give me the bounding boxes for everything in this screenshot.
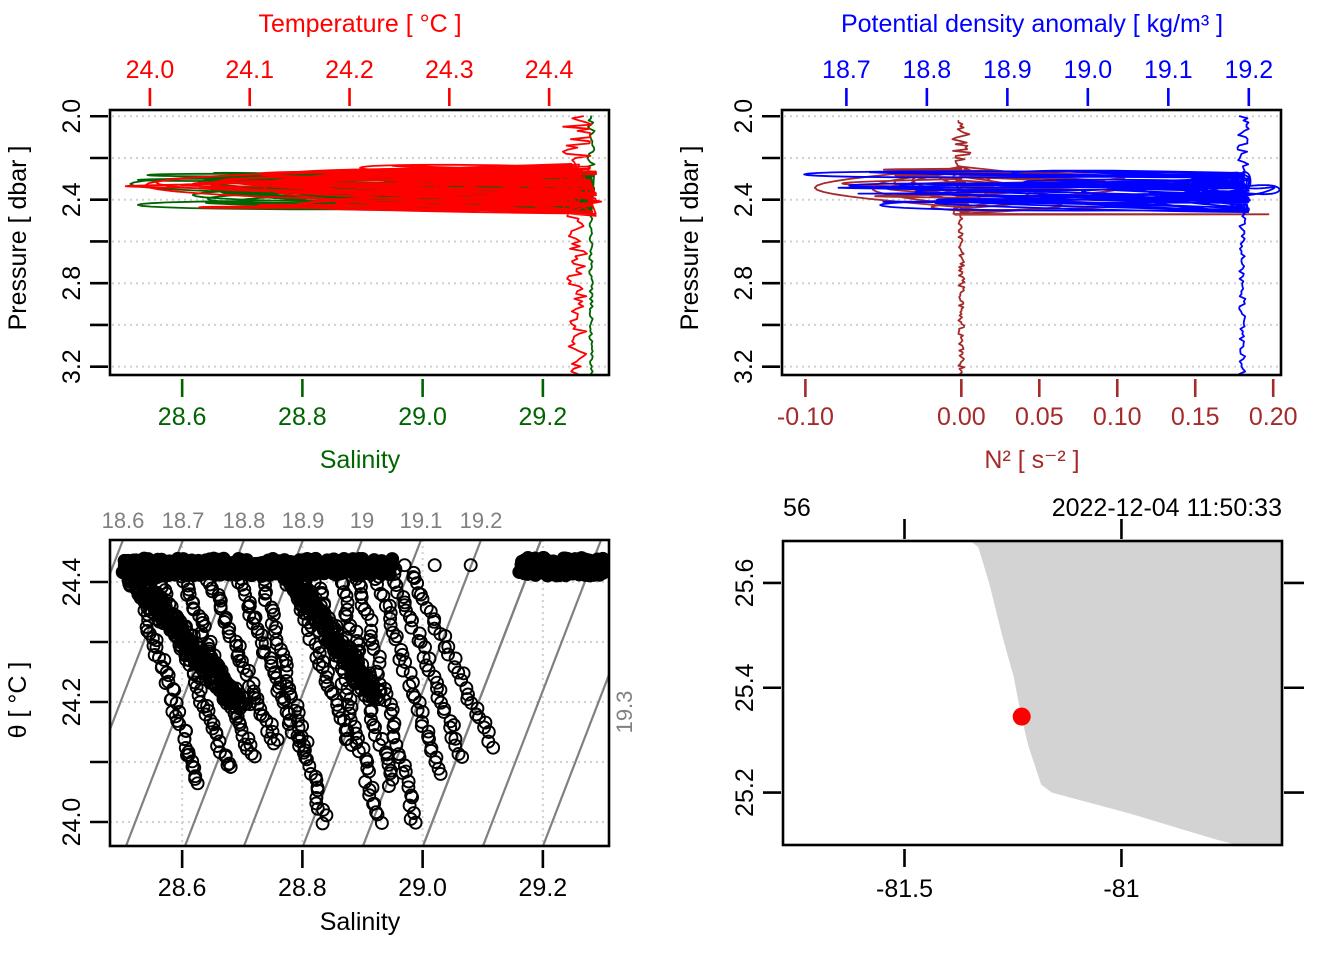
left-axis-ticks: 2.02.42.83.2 bbox=[730, 99, 780, 384]
temperature-trace bbox=[126, 116, 602, 374]
top-axis-tick-label: 24.4 bbox=[525, 56, 574, 84]
top-axis-tick-label: 19.2 bbox=[1224, 56, 1273, 84]
top-axis-ticks: 18.718.818.919.019.119.2 bbox=[822, 56, 1273, 106]
left-axis-tick-label: 2.0 bbox=[58, 99, 86, 134]
ts-point bbox=[136, 554, 148, 566]
isopycnal-line bbox=[543, 540, 661, 846]
ts-point bbox=[397, 665, 409, 677]
top-axis-ticks bbox=[904, 519, 1121, 539]
bottom-axis-title: Salinity bbox=[320, 908, 401, 936]
left-axis-tick-label: 24.0 bbox=[58, 798, 86, 847]
plot-frame bbox=[782, 110, 1281, 375]
left-axis-tick-label: 2.8 bbox=[58, 266, 86, 301]
bottom-axis-tick-label: 28.6 bbox=[158, 403, 207, 431]
bottom-axis-tick-label: 28.8 bbox=[278, 874, 327, 902]
bottom-axis-tick-label: 29.2 bbox=[519, 874, 568, 902]
bottom-axis-tick-label: -0.10 bbox=[777, 403, 834, 431]
ts-point bbox=[547, 568, 559, 580]
gridlines bbox=[112, 116, 607, 366]
profile-traces bbox=[804, 116, 1279, 374]
left-axis-tick-label: 2.4 bbox=[730, 182, 758, 217]
ts-point bbox=[338, 553, 350, 565]
bottom-axis-tick-label: 0.10 bbox=[1093, 403, 1142, 431]
ts-point bbox=[249, 751, 261, 763]
ts-point bbox=[536, 560, 548, 572]
bottom-axis-tick-label: 29.0 bbox=[398, 403, 447, 431]
isopycnal-line bbox=[483, 540, 601, 846]
bottom-axis-ticks: -0.100.000.050.100.150.20 bbox=[777, 379, 1298, 431]
ts-point bbox=[310, 553, 322, 565]
top-axis-tick-label: 18.7 bbox=[822, 56, 871, 84]
panel-station-map: 56 2022-12-04 11:50:33 25.625.425.2 -81.… bbox=[672, 480, 1344, 960]
bottom-axis-title: N² [ s⁻² ] bbox=[984, 446, 1079, 474]
isopycnal-top-labels: 18.618.718.818.91919.119.2 bbox=[102, 508, 503, 533]
panel-theta-salinity-diagram: 18.618.718.818.91919.119.2 19.3 Salinity… bbox=[0, 480, 672, 960]
left-axis-tick-label: 25.2 bbox=[731, 768, 759, 817]
ts-point bbox=[183, 558, 195, 570]
land-polygon bbox=[967, 538, 1282, 853]
bottom-axis-tick-label: 0.15 bbox=[1171, 403, 1220, 431]
top-axis-tick-label: 24.3 bbox=[425, 56, 474, 84]
isopycnal-side-label: 19.3 bbox=[612, 691, 637, 734]
density-trace bbox=[804, 116, 1279, 374]
top-axis-tick-label: 24.1 bbox=[225, 56, 274, 84]
left-axis-ticks: 25.625.425.2 bbox=[731, 559, 781, 817]
bottom-axis-tick-label: 29.2 bbox=[519, 403, 568, 431]
right-axis-ticks bbox=[1284, 583, 1304, 793]
gridlines bbox=[784, 116, 1279, 366]
left-axis-ticks: 24.024.224.4 bbox=[58, 558, 108, 847]
bottom-axis-tick-label: 0.00 bbox=[937, 403, 986, 431]
isopycnal-top-label: 18.8 bbox=[223, 508, 266, 533]
top-axis-tick-label: 24.0 bbox=[126, 56, 175, 84]
top-axis-tick-label: 18.8 bbox=[903, 56, 952, 84]
theta-salinity-diagram-svg: 18.618.718.818.91919.119.2 19.3 Salinity… bbox=[0, 480, 672, 960]
ctd-summary-figure: Temperature [ °C ] 24.024.124.224.324.4 … bbox=[0, 0, 1344, 960]
isopycnal-top-label: 19 bbox=[350, 508, 374, 533]
isopycnal-top-label: 18.7 bbox=[162, 508, 205, 533]
top-axis-ticks: 24.024.124.224.324.4 bbox=[126, 56, 574, 106]
timestamp-label: 2022-12-04 11:50:33 bbox=[1052, 494, 1282, 522]
bottom-axis-tick-label: -81 bbox=[1103, 875, 1139, 903]
left-axis-title: Pressure [ dbar ] bbox=[4, 146, 32, 331]
isopycnal-top-label: 18.6 bbox=[102, 508, 145, 533]
bottom-axis-tick-label: 0.05 bbox=[1015, 403, 1064, 431]
panel-temperature-salinity-profile: Temperature [ °C ] 24.024.124.224.324.4 … bbox=[0, 0, 672, 480]
ts-point bbox=[215, 554, 227, 566]
top-axis-tick-label: 24.2 bbox=[325, 56, 374, 84]
n2-trace bbox=[815, 121, 1269, 374]
top-axis-tick-label: 19.0 bbox=[1064, 56, 1113, 84]
left-axis-title: Pressure [ dbar ] bbox=[676, 146, 704, 331]
temperature-salinity-profile-svg: Temperature [ °C ] 24.024.124.224.324.4 … bbox=[0, 0, 672, 480]
bottom-axis-ticks: 28.628.829.029.2 bbox=[158, 379, 567, 431]
ts-point bbox=[559, 558, 571, 570]
bottom-axis-title: Salinity bbox=[320, 446, 401, 474]
bottom-axis-ticks: -81.5-81 bbox=[876, 849, 1140, 903]
left-axis-title: θ [ °C ] bbox=[4, 662, 32, 739]
ts-point bbox=[584, 558, 596, 570]
ts-point bbox=[429, 559, 441, 571]
left-axis-tick-label: 3.2 bbox=[730, 349, 758, 384]
salinity-trace bbox=[130, 116, 594, 374]
left-axis-tick-label: 3.2 bbox=[58, 349, 86, 384]
bottom-axis-tick-label: 0.20 bbox=[1249, 403, 1298, 431]
station-map-svg: 56 2022-12-04 11:50:33 25.625.425.2 -81.… bbox=[672, 480, 1344, 960]
top-axis-title: Temperature [ °C ] bbox=[258, 10, 461, 38]
isopycnal-lines bbox=[5, 540, 661, 846]
top-axis-tick-label: 18.9 bbox=[983, 56, 1032, 84]
isopycnal-top-label: 19.1 bbox=[400, 508, 443, 533]
left-axis-ticks: 2.02.42.83.2 bbox=[58, 99, 108, 384]
bottom-axis-ticks: 28.628.829.029.2 bbox=[158, 850, 567, 902]
density-n2-profile-svg: Potential density anomaly [ kg/m³ ] 18.7… bbox=[672, 0, 1344, 480]
bottom-axis-tick-label: -81.5 bbox=[876, 875, 933, 903]
left-axis-tick-label: 25.6 bbox=[731, 559, 759, 608]
profile-traces bbox=[126, 116, 602, 374]
left-axis-tick-label: 25.4 bbox=[731, 663, 759, 712]
ts-point bbox=[520, 560, 532, 572]
isopycnal-top-label: 18.9 bbox=[282, 508, 325, 533]
top-axis-tick-label: 19.1 bbox=[1144, 56, 1193, 84]
bottom-axis-tick-label: 29.0 bbox=[398, 874, 447, 902]
isopycnal-top-label: 19.2 bbox=[460, 508, 503, 533]
ts-point bbox=[573, 567, 585, 579]
station-marker bbox=[1013, 708, 1031, 726]
ts-scatter-points bbox=[117, 552, 609, 829]
left-axis-tick-label: 24.4 bbox=[58, 558, 86, 607]
panel-density-n2-profile: Potential density anomaly [ kg/m³ ] 18.7… bbox=[672, 0, 1344, 480]
station-number-label: 56 bbox=[783, 494, 811, 522]
plot-frame bbox=[110, 110, 609, 375]
left-axis-tick-label: 2.8 bbox=[730, 266, 758, 301]
bottom-axis-tick-label: 28.8 bbox=[278, 403, 327, 431]
left-axis-tick-label: 24.2 bbox=[58, 678, 86, 727]
left-axis-tick-label: 2.4 bbox=[58, 182, 86, 217]
bottom-axis-tick-label: 28.6 bbox=[158, 874, 207, 902]
top-axis-title: Potential density anomaly [ kg/m³ ] bbox=[841, 10, 1223, 38]
left-axis-tick-label: 2.0 bbox=[730, 99, 758, 134]
